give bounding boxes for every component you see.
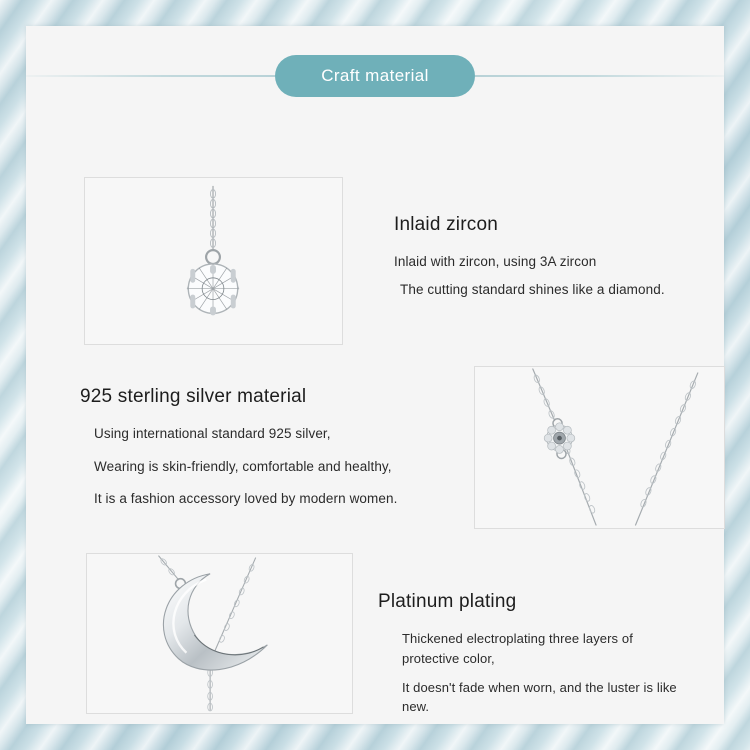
product-image-sterling-silver <box>474 366 725 529</box>
section-header: Craft material <box>26 52 724 100</box>
block-heading-platinum-plating: Platinum plating <box>378 591 688 613</box>
block-body-platinum-plating: Thickened electroplating three layers of… <box>378 629 688 717</box>
header-rule-left <box>26 75 275 77</box>
text-block-inlaid-zircon: Inlaid zircon Inlaid with zircon, using … <box>394 214 714 307</box>
block-line-2: It doesn't fade when worn, and the luste… <box>402 678 688 718</box>
product-detail-page: Craft material <box>0 0 750 750</box>
zircon-pendant-illustration <box>85 178 342 344</box>
header-rule-right <box>475 75 724 77</box>
crescent-moon-pendant-illustration <box>87 554 352 713</box>
block-heading-inlaid-zircon: Inlaid zircon <box>394 214 714 236</box>
block-line-1: Inlaid with zircon, using 3A zircon <box>394 252 714 273</box>
silver-chain-illustration <box>475 367 724 528</box>
block-line-3: It is a fashion accessory loved by moder… <box>80 489 480 510</box>
block-line-2: Wearing is skin-friendly, comfortable an… <box>80 457 480 478</box>
block-line-1: Thickened electroplating three layers of… <box>402 629 688 669</box>
text-block-platinum-plating: Platinum plating Thickened electroplatin… <box>378 591 688 726</box>
block-line-1: Using international standard 925 silver, <box>80 424 480 445</box>
text-block-sterling-silver: 925 sterling silver material Using inter… <box>80 386 480 522</box>
product-image-inlaid-zircon <box>84 177 343 345</box>
block-heading-sterling-silver: 925 sterling silver material <box>80 386 480 408</box>
section-title-pill: Craft material <box>275 55 475 97</box>
block-line-2: The cutting standard shines like a diamo… <box>394 280 714 301</box>
product-image-platinum-plating <box>86 553 353 714</box>
content-panel: Craft material <box>26 26 724 724</box>
